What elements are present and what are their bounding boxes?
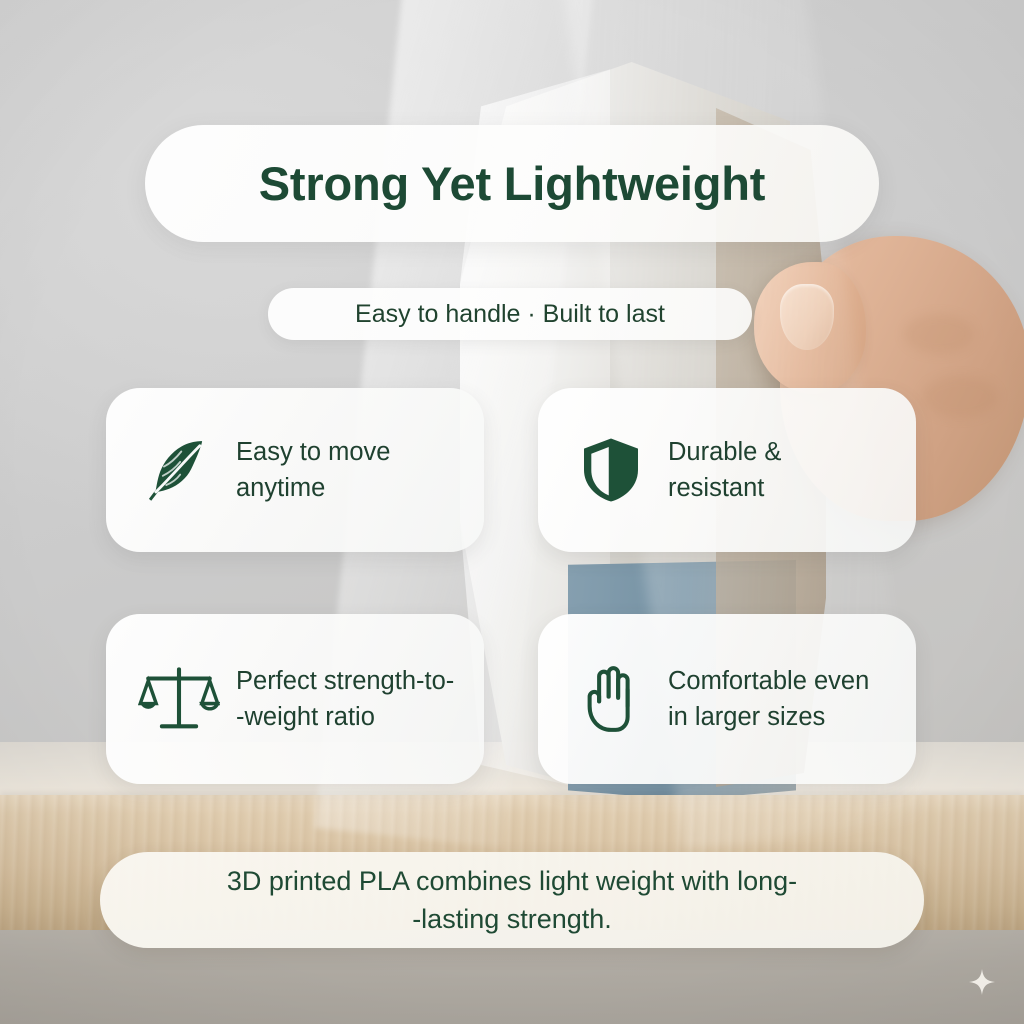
hand-icon [568,656,654,742]
feature-card-easy-to-move[interactable]: Easy to move anytime [106,388,484,552]
subtitle-banner: Easy to handle · Built to last [268,288,752,340]
footer-label: 3D printed PLA combines light weight wit… [227,862,797,939]
feature-card-label: Perfect strength-to- -weight ratio [236,663,454,735]
page-title: Strong Yet Lightweight [259,156,766,211]
overlay-content: Strong Yet Lightweight Easy to handle · … [0,0,1024,1024]
feature-card-label: Durable & resistant [668,434,781,506]
page-subtitle: Easy to handle · Built to last [355,300,665,329]
sparkle-icon [969,969,995,995]
feature-card-durable[interactable]: Durable & resistant [538,388,916,552]
feature-card-label: Comfortable even in larger sizes [668,663,869,735]
feature-card-label: Easy to move anytime [236,434,390,506]
shield-icon [568,427,654,513]
feather-icon [136,427,222,513]
feature-card-strength-to-weight[interactable]: Perfect strength-to- -weight ratio [106,614,484,784]
title-banner: Strong Yet Lightweight [145,125,879,242]
feature-card-comfortable[interactable]: Comfortable even in larger sizes [538,614,916,784]
balance-scale-icon [136,656,222,742]
footer-banner: 3D printed PLA combines light weight wit… [100,852,924,948]
promo-graphic: Strong Yet Lightweight Easy to handle · … [0,0,1024,1024]
